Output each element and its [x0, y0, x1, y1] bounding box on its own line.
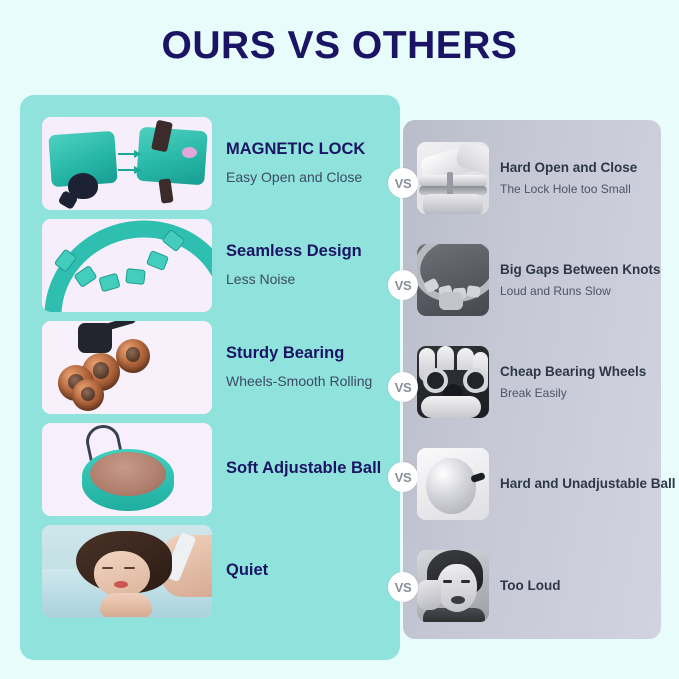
- others-row-subtitle: Break Easily: [500, 385, 646, 402]
- ours-row-title: Soft Adjustable Ball: [226, 457, 381, 481]
- vs-badge: VS: [388, 270, 418, 300]
- vs-badge: VS: [388, 168, 418, 198]
- ours-row: Soft Adjustable Ball: [42, 421, 392, 517]
- competitor-lock-photo: [417, 142, 489, 214]
- others-row-title: Cheap Bearing Wheels: [500, 362, 646, 382]
- ours-row-title: Seamless Design: [226, 240, 362, 264]
- ours-row-subtitle: Less Noise: [226, 269, 362, 289]
- competitor-loud-face-photo: [417, 550, 489, 622]
- seamless-hoop-photo: [42, 219, 212, 312]
- sleeping-woman-photo: [42, 525, 212, 618]
- others-row-title: Hard and Unadjustable Ball: [500, 474, 676, 494]
- others-row-subtitle: Loud and Runs Slow: [500, 283, 661, 300]
- ours-row-title: Quiet: [226, 559, 268, 583]
- others-row: Cheap Bearing Wheels Break Easily: [417, 334, 661, 430]
- ours-panel: MAGNETIC LOCK Easy Open and Close Seamle…: [20, 95, 400, 660]
- others-panel: Hard Open and Close The Lock Hole too Sm…: [403, 120, 661, 639]
- ours-row: MAGNETIC LOCK Easy Open and Close: [42, 115, 392, 211]
- vs-badge: VS: [388, 572, 418, 602]
- others-row: Hard Open and Close The Lock Hole too Sm…: [417, 130, 661, 226]
- others-row: Hard and Unadjustable Ball: [417, 436, 661, 532]
- others-row-title: Hard Open and Close: [500, 158, 637, 178]
- others-row-title: Too Loud: [500, 576, 560, 596]
- ours-row: Sturdy Bearing Wheels-Smooth Rolling: [42, 319, 392, 415]
- competitor-hoop-photo: [417, 244, 489, 316]
- others-row: Too Loud: [417, 538, 661, 634]
- others-row-text: Cheap Bearing Wheels Break Easily: [489, 362, 646, 403]
- others-row-text: Too Loud: [489, 576, 560, 596]
- competitor-bearing-photo: [417, 346, 489, 418]
- ours-row-title: Sturdy Bearing: [226, 342, 372, 366]
- others-row-title: Big Gaps Between Knots: [500, 260, 661, 280]
- ours-row-text: MAGNETIC LOCK Easy Open and Close: [212, 138, 365, 187]
- ours-row-text: Quiet: [212, 559, 268, 583]
- ours-row-text: Sturdy Bearing Wheels-Smooth Rolling: [212, 342, 372, 391]
- others-row: Big Gaps Between Knots Loud and Runs Slo…: [417, 232, 661, 328]
- vs-badge: VS: [388, 372, 418, 402]
- bearing-wheels-photo: [42, 321, 212, 414]
- competitor-balloon-photo: [417, 448, 489, 520]
- others-row-text: Hard Open and Close The Lock Hole too Sm…: [489, 158, 637, 199]
- soft-ball-photo: [42, 423, 212, 516]
- vs-badge: VS: [388, 462, 418, 492]
- ours-row: Seamless Design Less Noise: [42, 217, 392, 313]
- ours-row-text: Soft Adjustable Ball: [212, 457, 381, 481]
- others-row-text: Big Gaps Between Knots Loud and Runs Slo…: [489, 260, 661, 301]
- ours-row-subtitle: Wheels-Smooth Rolling: [226, 371, 372, 391]
- others-row-subtitle: The Lock Hole too Small: [500, 181, 637, 198]
- others-row-text: Hard and Unadjustable Ball: [489, 474, 676, 494]
- ours-row: Quiet: [42, 523, 392, 619]
- ours-row-text: Seamless Design Less Noise: [212, 240, 362, 289]
- magnetic-lock-photo: [42, 117, 212, 210]
- ours-row-subtitle: Easy Open and Close: [226, 167, 365, 187]
- ours-row-title: MAGNETIC LOCK: [226, 138, 365, 162]
- page-title: OURS VS OTHERS: [0, 24, 679, 68]
